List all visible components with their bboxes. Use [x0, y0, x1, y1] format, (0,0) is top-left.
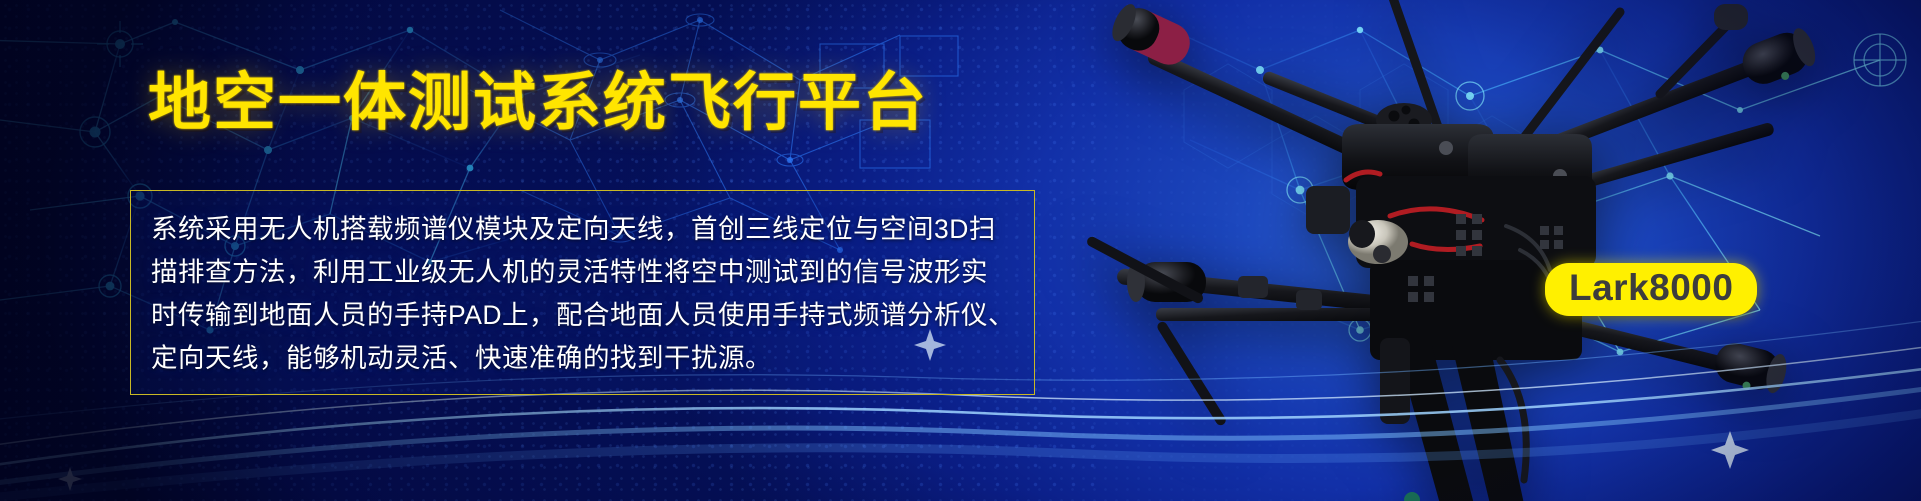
description-line: 描排查方法，利用工业级无人机的灵活特性将空中测试到的信号波形实: [151, 251, 1014, 294]
description-line: 定向天线，能够机动灵活、快速准确的找到干扰源。: [151, 337, 1014, 380]
product-model-badge: Lark8000: [1545, 263, 1757, 316]
promo-banner: 地空一体测试系统飞行平台 系统采用无人机搭载频谱仪模块及定向天线，首创三线定位与…: [0, 0, 1921, 501]
description-line: 时传输到地面人员的手持PAD上，配合地面人员使用手持式频谱分析仪、: [151, 294, 1014, 337]
description-box: 系统采用无人机搭载频谱仪模块及定向天线，首创三线定位与空间3D扫 描排查方法，利…: [130, 190, 1035, 395]
page-title: 地空一体测试系统飞行平台: [148, 72, 928, 135]
description-line: 系统采用无人机搭载频谱仪模块及定向天线，首创三线定位与空间3D扫: [151, 208, 1014, 251]
